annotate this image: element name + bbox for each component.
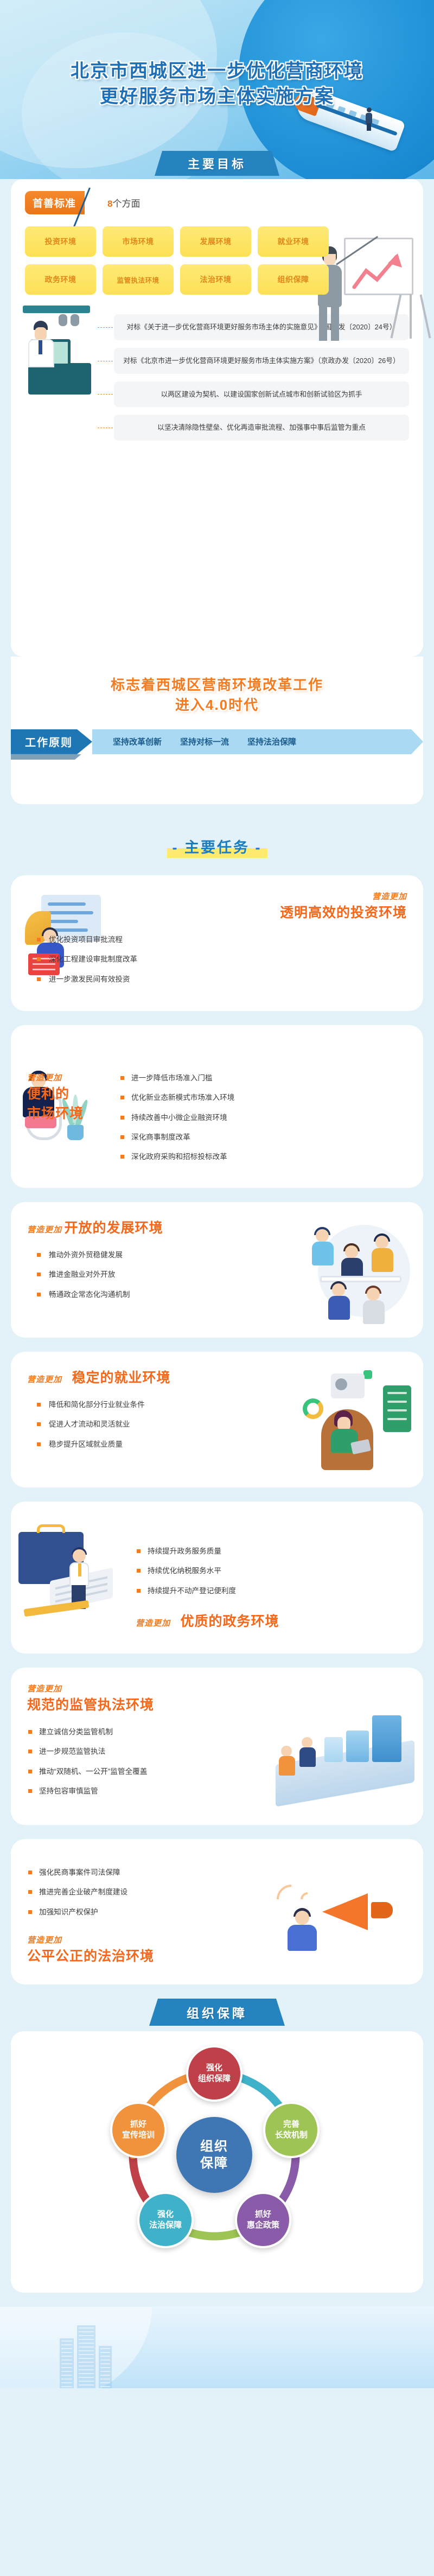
- card-title-prefix: 营造更加: [27, 1072, 84, 1083]
- node-line2: 组织保障: [198, 2073, 231, 2084]
- node-line1: 完善: [275, 2119, 308, 2130]
- card-bullet-list: 强化民商事案件司法保障 推进完善企业破产制度建设 加强知识产权保护: [27, 1863, 293, 1922]
- aspect-tag-grid: 投资环境 市场环境 发展环境 就业环境 政务环境 监管执法环境 法治环境 组织保…: [25, 226, 329, 295]
- person-illustration: [365, 106, 373, 130]
- card-title-main: 优质的政务环境: [180, 1614, 279, 1629]
- bullet-item: 畅通政企常态化沟通机制: [27, 1285, 298, 1305]
- card-title-main-line2: 市场环境: [27, 1103, 84, 1122]
- wheel-node-strengthen-organization[interactable]: 强化 组织保障: [186, 2045, 242, 2102]
- card-title-main-line1: 便利的: [27, 1083, 84, 1103]
- bullet-item: 进一步规范监管执法: [27, 1742, 288, 1761]
- task-card-rule-of-law: 强化民商事案件司法保障 推进完善企业破产制度建设 加强知识产权保护 营造更加 公…: [11, 1839, 423, 1985]
- bullet-item: 推动“双随机、一公开”监管全覆盖: [27, 1762, 288, 1782]
- bullet-item: 推进金融业对外开放: [27, 1265, 298, 1284]
- card-content: 持续提升政务服务质量 持续优化纳税服务水平 持续提升不动产登记便利度 营造更加 …: [11, 1502, 423, 1650]
- bullet-item: 深化工程建设审批制度改革: [27, 950, 407, 969]
- footer-building: [99, 2346, 112, 2388]
- growth-arrow-icon: [352, 251, 404, 291]
- wheel-center-organization-guarantee: 组织 保障: [176, 2117, 252, 2193]
- banner-shadow-decor: [11, 754, 423, 760]
- organization-banner: 组织保障: [149, 1999, 285, 2026]
- bullet-item: 降低和简化部分行业就业条件: [27, 1395, 288, 1415]
- card-bullet-list: 优化投资项目审批流程 深化工程建设审批制度改革 进一步激发民间有效投资: [27, 930, 407, 989]
- organization-wheel-diagram: 强化 组织保障 完善 长效机制 抓好 惠企政策: [100, 2050, 334, 2267]
- work-principles-band: 工作原则 坚持改革创新 坚持对标一流 坚持法治保障: [11, 729, 423, 774]
- bullet-item: 优化投资项目审批流程: [27, 930, 407, 950]
- organization-banner-wrap: 组织保障: [0, 1999, 434, 2031]
- bullet-item: 进一步激发民间有效投资: [27, 970, 407, 989]
- main-tasks-title-label: - 主要任务 -: [173, 839, 262, 856]
- aspect-tag[interactable]: 政务环境: [25, 264, 96, 295]
- node-line2: 法治保障: [149, 2220, 182, 2231]
- work-principles-label: 工作原则: [11, 729, 92, 754]
- bullet-item: 进一步降低市场准入门槛: [119, 1068, 407, 1088]
- wheel-center-line1: 组织: [200, 2138, 228, 2155]
- standard-row: 首善标准 8个方面: [25, 191, 409, 214]
- card-title-prefix: 营造更加: [27, 891, 407, 902]
- bullet-item: 持续优化纳税服务水平: [136, 1561, 407, 1581]
- card-content: 营造更加 规范的监管执法环境 建立诚信分类监管机制 进一步规范监管执法 推动“双…: [11, 1668, 423, 1818]
- footer-blob-decor: [0, 2307, 152, 2388]
- card-title: 营造更加 透明高效的投资环境: [27, 891, 407, 921]
- work-principles-label-text: 工作原则: [25, 734, 73, 749]
- bullet-item: 促进人才流动和灵活就业: [27, 1415, 288, 1434]
- bullet-item: 深化政府采购和招标投标改革: [119, 1147, 407, 1167]
- wheel-node-enterprise-policy[interactable]: 抓好 惠企政策: [235, 2192, 291, 2248]
- service-desk-illustration: [25, 311, 106, 441]
- organization-card: 强化 组织保障 完善 长效机制 抓好 惠企政策: [11, 2031, 423, 2293]
- reference-item: 以两区建设为契机、以建设国家创新试点城市和创新试验区为抓手: [114, 381, 409, 408]
- work-principle-item: 坚持对标一流: [180, 736, 229, 747]
- card-bullet-list: 降低和简化部分行业就业条件 促进人才流动和灵活就业 稳步提升区域就业质量: [27, 1395, 288, 1454]
- reference-item: 对标《北京市进一步优化营商环境更好服务市场主体实施方案》（京政办发〔2020〕2…: [114, 348, 409, 374]
- card-title-prefix: 营造更加: [27, 1934, 293, 1945]
- node-line2: 长效机制: [275, 2130, 308, 2141]
- node-line2: 惠企政策: [247, 2220, 279, 2231]
- standard-pill: 首善标准: [25, 191, 85, 214]
- node-line1: 强化: [198, 2063, 231, 2073]
- task-card-development: 营造更加 开放的发展环境 推动外资外贸稳健发展 推进金融业对外开放 畅通政企常态…: [11, 1202, 423, 1338]
- card-title-prefix: 营造更加: [136, 1619, 170, 1628]
- task-card-government-services: 持续提升政务服务质量 持续优化纳税服务水平 持续提升不动产登记便利度 营造更加 …: [11, 1502, 423, 1653]
- bullet-item: 加强知识产权保护: [27, 1903, 293, 1922]
- reference-item: 以坚决清除隐性壁垒、优化再造审批流程、加强事中事后监管为重点: [114, 415, 409, 441]
- bullet-item: 坚持包容审慎监管: [27, 1782, 288, 1801]
- wheel-center-line2: 保障: [200, 2155, 228, 2172]
- card-content: 营造更加 透明高效的投资环境 优化投资项目审批流程 深化工程建设审批制度改革 进…: [11, 875, 423, 1006]
- orange-headline-line1: 标志着西城区营商环境改革工作: [11, 675, 423, 695]
- card-title-main: 规范的监管执法环境: [27, 1697, 154, 1713]
- task-card-market: 营造更加 便利的 市场环境 进一步降低市场准入门槛 优化新业态新模式市场准入环境…: [11, 1025, 423, 1188]
- panel-bottom-rounding: [11, 774, 423, 804]
- bullet-item: 推动外资外贸稳健发展: [27, 1245, 298, 1265]
- card-title-main: 透明高效的投资环境: [280, 905, 407, 920]
- bullet-item: 强化民商事案件司法保障: [27, 1863, 293, 1882]
- bullet-item: 优化新业态新模式市场准入环境: [119, 1088, 407, 1108]
- work-principles-items: 坚持改革创新 坚持对标一流 坚持法治保障: [92, 729, 423, 754]
- work-principle-item: 坚持改革创新: [113, 736, 162, 747]
- bullet-item: 稳步提升区域就业质量: [27, 1435, 288, 1454]
- task-card-employment: 营造更加 稳定的就业环境 降低和简化部分行业就业条件 促进人才流动和灵活就业 稳…: [11, 1352, 423, 1487]
- goals-panel: 首善标准 8个方面: [11, 179, 423, 657]
- bullet-item: 深化商事制度改革: [119, 1128, 407, 1147]
- card-bullet-list: 进一步降低市场准入门槛 优化新业态新模式市场准入环境 持续改善中小微企业融资环境…: [119, 1068, 407, 1167]
- card-title: 营造更加 优质的政务环境: [136, 1611, 407, 1630]
- card-title-main: 稳定的就业环境: [72, 1370, 170, 1385]
- aspect-tag[interactable]: 组织保障: [258, 264, 329, 295]
- card-bullet-list: 建立诚信分类监管机制 进一步规范监管执法 推动“双随机、一公开”监管全覆盖 坚持…: [27, 1722, 288, 1802]
- card-title: 营造更加 便利的 市场环境: [27, 1072, 84, 1122]
- main-goals-banner-label: 主要目标: [188, 155, 246, 172]
- footer-building: [60, 2338, 74, 2388]
- card-bullet-list: 推动外资外贸稳健发展 推进金融业对外开放 畅通政企常态化沟通机制: [27, 1245, 298, 1305]
- card-title: 营造更加 稳定的就业环境: [27, 1367, 288, 1386]
- card-title-main: 公平公正的法治环境: [27, 1949, 154, 1964]
- orange-headline-line2: 进入4.0时代: [11, 695, 423, 715]
- card-bullet-list: 持续提升政务服务质量 持续优化纳税服务水平 持续提升不动产登记便利度: [136, 1542, 407, 1601]
- infographic-page: 北京市西城区进一步优化营商环境 更好服务市场主体实施方案 主要目标 首善标准 8…: [0, 0, 434, 2388]
- page-title-line1: 北京市西城区进一步优化营商环境: [0, 59, 434, 84]
- easel-board: [344, 238, 413, 295]
- card-content: 营造更加 开放的发展环境 推动外资外贸稳健发展 推进金融业对外开放 畅通政企常态…: [11, 1202, 423, 1321]
- task-card-investment: 营造更加 透明高效的投资环境 优化投资项目审批流程 深化工程建设审批制度改革 进…: [11, 875, 423, 1011]
- aspect-tag[interactable]: 市场环境: [103, 226, 174, 257]
- aspect-count: 8个方面: [107, 196, 140, 209]
- task-card-regulation: 营造更加 规范的监管执法环境 建立诚信分类监管机制 进一步规范监管执法 推动“双…: [11, 1668, 423, 1825]
- node-line2: 宣传培训: [122, 2130, 155, 2141]
- card-content: 营造更加 便利的 市场环境 进一步降低市场准入门槛 优化新业态新模式市场准入环境…: [11, 1025, 423, 1184]
- aspect-count-text: 个方面: [112, 199, 140, 209]
- bullet-item: 持续提升不动产登记便利度: [136, 1581, 407, 1601]
- wheel-node-publicity-training[interactable]: 抓好 宣传培训: [110, 2102, 167, 2158]
- aspect-tag[interactable]: 投资环境: [25, 226, 96, 257]
- aspect-tag[interactable]: 发展环境: [180, 226, 251, 257]
- bullet-item: 持续提升政务服务质量: [136, 1542, 407, 1561]
- binoculars-icon: [59, 314, 80, 326]
- card-title-main: 开放的发展环境: [64, 1220, 163, 1236]
- main-goals-banner-wrap: 主要目标: [0, 151, 434, 179]
- node-line1: 强化: [149, 2209, 182, 2220]
- main-tasks-title: - 主要任务 -: [0, 804, 434, 875]
- card-title-prefix: 营造更加: [27, 1683, 288, 1694]
- card-title: 营造更加 开放的发展环境: [27, 1217, 298, 1237]
- footer-building: [77, 2325, 95, 2388]
- card-title-prefix: 营造更加: [27, 1375, 62, 1384]
- aspect-tag[interactable]: 就业环境: [258, 226, 329, 257]
- orange-headline: 标志着西城区营商环境改革工作 进入4.0时代: [11, 657, 423, 729]
- card-content: 强化民商事案件司法保障 推进完善企业破产制度建设 加强知识产权保护 营造更加 公…: [11, 1839, 423, 1985]
- organization-banner-label: 组织保障: [187, 2003, 247, 2021]
- bullet-item: 推进完善企业破产制度建设: [27, 1882, 293, 1902]
- work-principle-item: 坚持法治保障: [247, 736, 296, 747]
- card-title: 营造更加 规范的监管执法环境: [27, 1683, 288, 1714]
- node-line1: 抓好: [247, 2209, 279, 2220]
- main-goals-banner: 主要目标: [155, 151, 279, 176]
- page-title-line2: 更好服务市场主体实施方案: [0, 84, 434, 110]
- work-principles-row: 工作原则 坚持改革创新 坚持对标一流 坚持法治保障: [11, 729, 423, 754]
- node-line1: 抓好: [122, 2119, 155, 2130]
- page-footer: [0, 2307, 434, 2388]
- aspect-tag[interactable]: 监管执法环境: [103, 264, 174, 295]
- aspect-tag[interactable]: 法治环境: [180, 264, 251, 295]
- wheel-node-legal-guarantee[interactable]: 强化 法治保障: [137, 2192, 194, 2248]
- main-tasks-title-text: - 主要任务 -: [169, 836, 265, 857]
- bullet-item: 持续改善中小微企业融资环境: [119, 1108, 407, 1128]
- card-content: 营造更加 稳定的就业环境 降低和简化部分行业就业条件 促进人才流动和灵活就业 稳…: [11, 1352, 423, 1471]
- card-title-prefix: 营造更加: [27, 1225, 62, 1235]
- card-title: 营造更加 公平公正的法治环境: [27, 1934, 293, 1965]
- wheel-node-improve-mechanism[interactable]: 完善 长效机制: [263, 2102, 320, 2158]
- page-title: 北京市西城区进一步优化营商环境 更好服务市场主体实施方案: [0, 59, 434, 110]
- bullet-item: 建立诚信分类监管机制: [27, 1722, 288, 1742]
